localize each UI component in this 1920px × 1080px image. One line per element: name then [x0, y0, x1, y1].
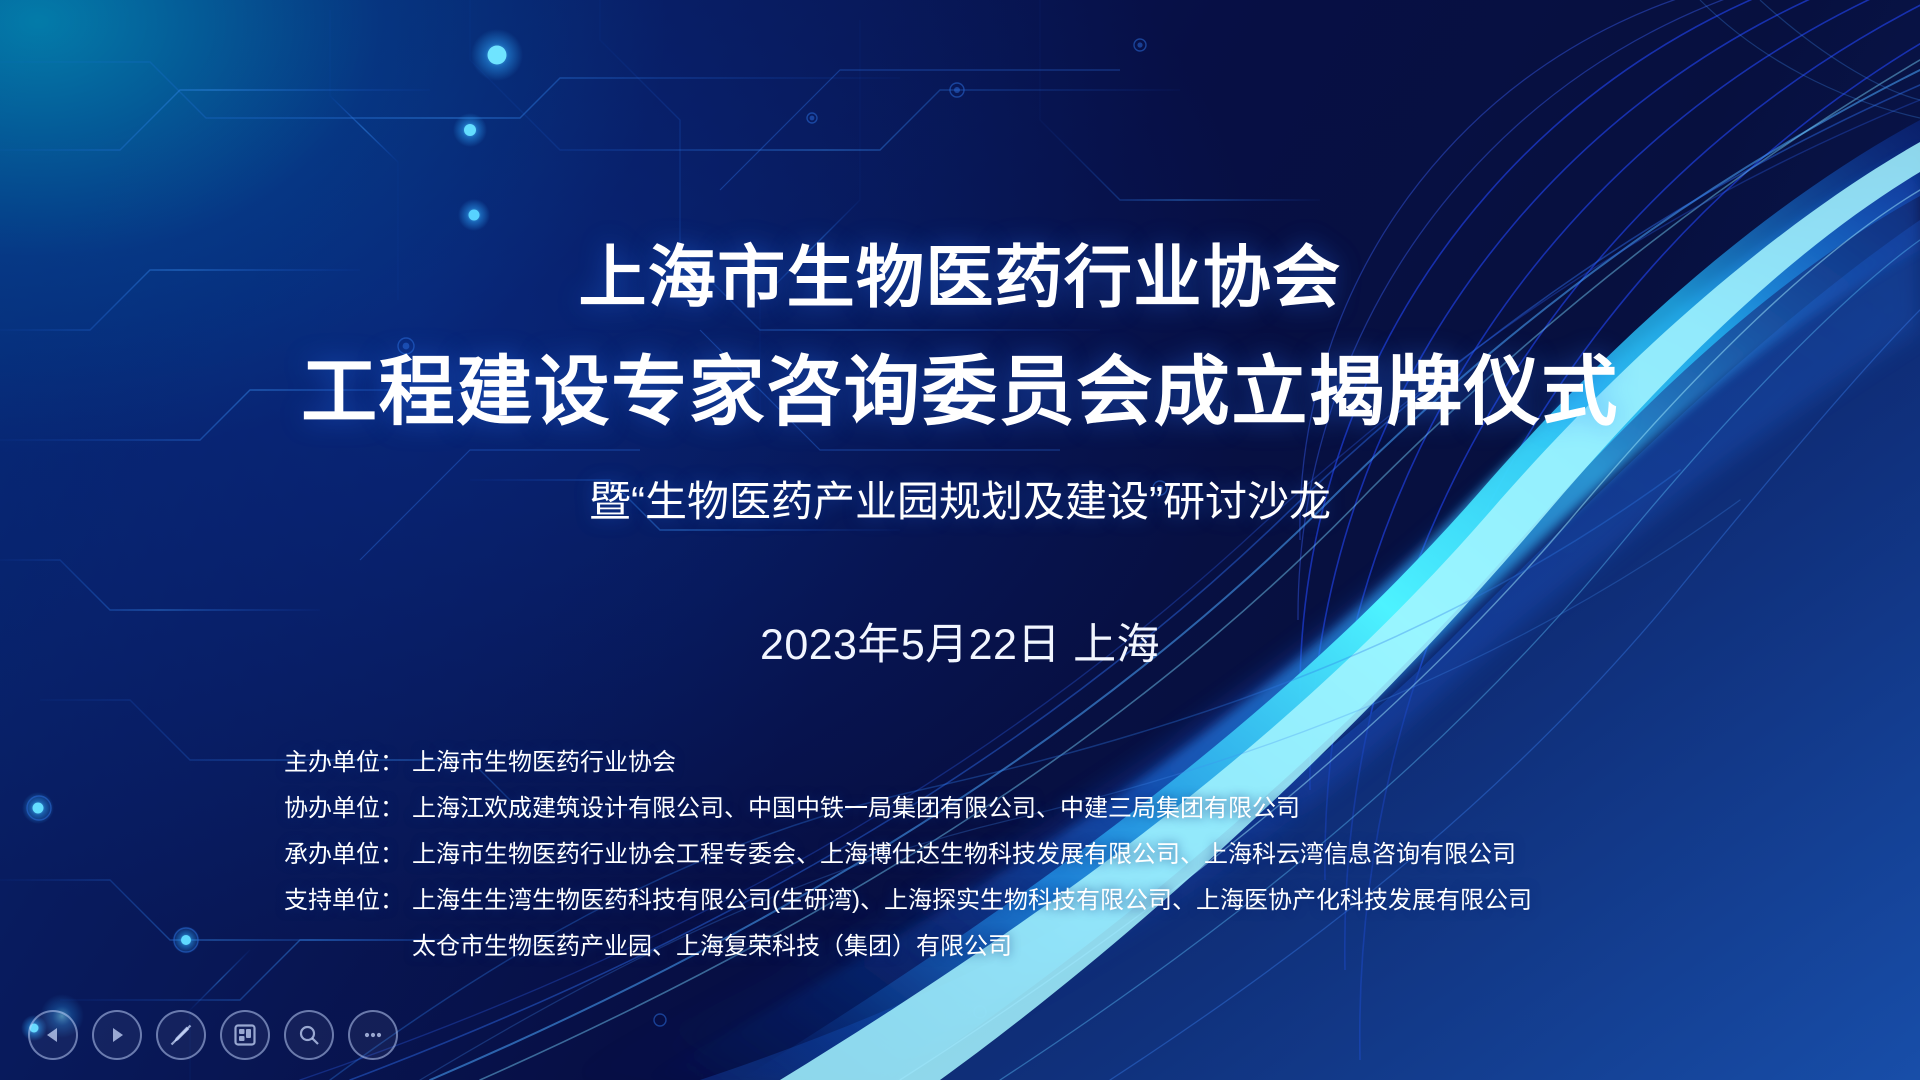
slide-content: 上海市生物医药行业协会 工程建设专家咨询委员会成立揭牌仪式 暨“生物医药产业园规…: [0, 0, 1920, 1080]
supporter-label: 支持单位：: [284, 878, 412, 924]
page-title-line-1: 上海市生物医药行业协会: [0, 222, 1920, 321]
co-organizer-label: 协办单位：: [284, 786, 412, 832]
list-item: 主办单位：上海市生物医药行业协会: [284, 740, 1532, 786]
page-title-line-2: 工程建设专家咨询委员会成立揭牌仪式: [0, 330, 1920, 440]
ellipsis-icon: [361, 1023, 385, 1047]
presentation-slide: 上海市生物医药行业协会 工程建设专家咨询委员会成立揭牌仪式 暨“生物医药产业园规…: [0, 0, 1920, 1080]
co-organizer-value: 上海江欢成建筑设计有限公司、中国中铁一局集团有限公司、中建三局集团有限公司: [412, 795, 1300, 822]
event-date-location: 2023年5月22日 上海: [0, 610, 1920, 672]
organizer-label: 主办单位：: [284, 740, 412, 786]
organizer-value: 上海市生物医药行业协会: [412, 749, 676, 776]
grid-slides-icon: [233, 1023, 257, 1047]
pen-annotate-button[interactable]: [156, 1010, 206, 1060]
next-slide-button[interactable]: [92, 1010, 142, 1060]
magnifier-icon: [297, 1023, 321, 1047]
undertaker-value: 上海市生物医药行业协会工程专委会、上海博仕达生物科技发展有限公司、上海科云湾信息…: [412, 841, 1516, 868]
triangle-left-icon: [42, 1024, 64, 1046]
zoom-slide-button[interactable]: [284, 1010, 334, 1060]
slide-overview-button[interactable]: [220, 1010, 270, 1060]
list-item: 太仓市生物医药产业园、上海复荣科技（集团）有限公司: [284, 924, 1532, 970]
supporter-value-continued: 太仓市生物医药产业园、上海复荣科技（集团）有限公司: [412, 933, 1012, 960]
list-item: 支持单位：上海生生湾生物医药科技有限公司(生研湾)、上海探实生物科技有限公司、上…: [284, 878, 1532, 924]
list-item: 承办单位：上海市生物医药行业协会工程专委会、上海博仕达生物科技发展有限公司、上海…: [284, 832, 1532, 878]
triangle-right-icon: [106, 1024, 128, 1046]
pen-icon: [168, 1022, 194, 1048]
list-item: 协办单位：上海江欢成建筑设计有限公司、中国中铁一局集团有限公司、中建三局集团有限…: [284, 786, 1532, 832]
more-options-button[interactable]: [348, 1010, 398, 1060]
supporter-value: 上海生生湾生物医药科技有限公司(生研湾)、上海探实生物科技有限公司、上海医协产化…: [412, 887, 1532, 914]
presenter-toolbar[interactable]: [28, 1010, 398, 1060]
previous-slide-button[interactable]: [28, 1010, 78, 1060]
page-subtitle: 暨“生物医药产业园规划及建设”研讨沙龙: [0, 468, 1920, 529]
undertaker-label: 承办单位：: [284, 832, 412, 878]
organizations-block: 主办单位：上海市生物医药行业协会 协办单位：上海江欢成建筑设计有限公司、中国中铁…: [284, 740, 1532, 970]
